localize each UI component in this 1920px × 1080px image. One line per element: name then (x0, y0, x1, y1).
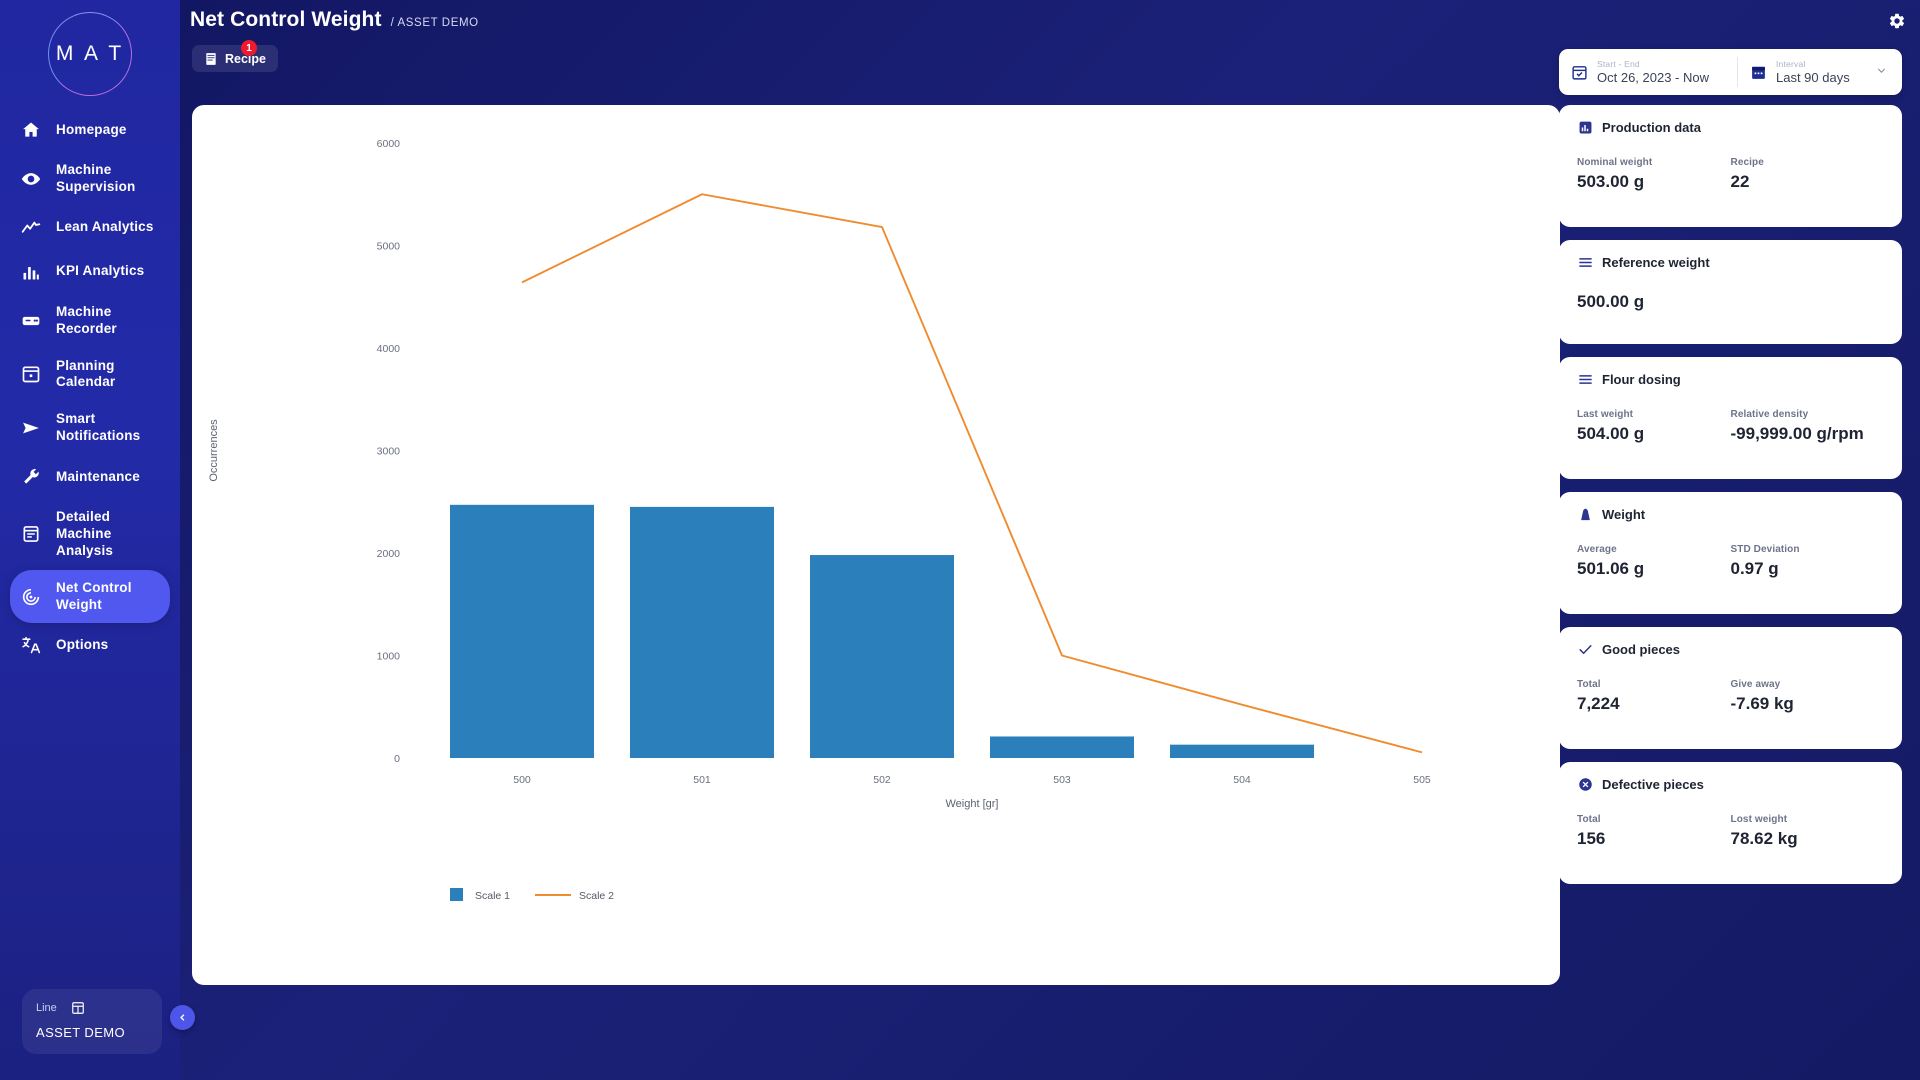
bar-chart-icon (20, 261, 42, 283)
sidebar-item-options[interactable]: Options (10, 623, 170, 667)
metric-card-production-data: Production dataNominal weight503.00 gRec… (1559, 105, 1902, 227)
metric: Give away-7.69 kg (1731, 679, 1885, 714)
card-title: Production data (1602, 120, 1701, 135)
y-axis-tick-label: 5000 (377, 241, 401, 253)
metric: 500.00 g (1577, 292, 1884, 312)
metric: Nominal weight503.00 g (1577, 157, 1731, 192)
metric-label: Average (1577, 544, 1731, 555)
sidebar-item-label: Planning Calendar (56, 358, 162, 392)
wrench-icon (20, 466, 42, 488)
bar-column[interactable] (990, 736, 1134, 758)
sidebar-collapse-button[interactable] (170, 1005, 195, 1030)
bar-column[interactable] (630, 507, 774, 758)
metric: Lost weight78.62 kg (1731, 814, 1885, 849)
sidebar-item-lean-analytics[interactable]: Lean Analytics (10, 206, 170, 250)
metric-label: Recipe (1731, 157, 1885, 168)
metric: Total7,224 (1577, 679, 1731, 714)
app-root: M A T HomepageMachine SupervisionLean An… (0, 0, 1920, 1080)
x-axis-tick-label: 504 (1233, 774, 1251, 786)
bar-column[interactable] (450, 505, 594, 758)
card-header: Weight (1577, 506, 1884, 522)
metric-label: Total (1577, 814, 1731, 825)
recipe-icon (204, 52, 218, 66)
y-axis-tick-label: 2000 (377, 548, 401, 560)
card-body: Total156Lost weight78.62 kg (1577, 814, 1884, 849)
card-body: Total7,224Give away-7.69 kg (1577, 679, 1884, 714)
sidebar-item-label: KPI Analytics (56, 263, 144, 280)
asset-selector[interactable]: Line ASSET DEMO (22, 989, 162, 1054)
send-icon (20, 417, 42, 439)
asset-name: ASSET DEMO (36, 1025, 148, 1040)
date-range-caption: Start - End (1597, 59, 1709, 69)
metric-label: Last weight (1577, 409, 1731, 420)
x-axis-tick-label: 502 (873, 774, 891, 786)
metric-value: 22 (1731, 172, 1885, 192)
sidebar-item-maintenance[interactable]: Maintenance (10, 455, 170, 499)
histogram-chart-panel: 0100020003000400050006000Occurrences5005… (192, 105, 1560, 985)
metric: Total156 (1577, 814, 1731, 849)
calendar-icon (1750, 64, 1767, 81)
sidebar-item-label: Detailed Machine Analysis (56, 509, 162, 560)
sidebar-item-label: Smart Notifications (56, 411, 162, 445)
card-header: Defective pieces (1577, 776, 1884, 792)
target-icon (20, 586, 42, 608)
bar-column[interactable] (810, 555, 954, 758)
metric-value: 7,224 (1577, 694, 1731, 714)
check-icon (1577, 641, 1593, 657)
calendar-icon (20, 363, 42, 385)
sidebar-item-machine-supervision[interactable]: Machine Supervision (10, 152, 170, 206)
date-range-value: Oct 26, 2023 - Now (1597, 70, 1709, 85)
gear-icon[interactable] (1888, 12, 1908, 32)
recorder-icon (20, 310, 42, 332)
metric-value: 78.62 kg (1731, 829, 1885, 849)
metric: Last weight504.00 g (1577, 409, 1731, 444)
card-title: Good pieces (1602, 642, 1680, 657)
y-axis-tick-label: 4000 (377, 343, 401, 355)
metric-card-weight: WeightAverage501.06 gSTD Deviation0.97 g (1559, 492, 1902, 614)
x-axis-tick-label: 500 (513, 774, 531, 786)
home-icon (20, 119, 42, 141)
metric-label: Nominal weight (1577, 157, 1731, 168)
card-body: Last weight504.00 gRelative density-99,9… (1577, 409, 1884, 444)
card-header: Reference weight (1577, 254, 1884, 270)
title-row: Net Control Weight / ASSET DEMO (190, 8, 479, 32)
date-range-segment[interactable]: Start - End Oct 26, 2023 - Now (1559, 49, 1737, 95)
sidebar-item-machine-recorder[interactable]: Machine Recorder (10, 294, 170, 348)
weight-icon (1577, 506, 1593, 522)
legend-label-line: Scale 2 (579, 890, 614, 902)
logo-circle: M A T (48, 12, 132, 96)
card-header: Production data (1577, 119, 1884, 135)
card-title: Defective pieces (1602, 777, 1704, 792)
metric-value: -7.69 kg (1731, 694, 1885, 714)
trend-line-icon (20, 217, 42, 239)
logo-text: M A T (56, 42, 124, 66)
translate-icon (20, 634, 42, 656)
x-axis-tick-label: 501 (693, 774, 711, 786)
metric-label: Lost weight (1731, 814, 1885, 825)
page-title: Net Control Weight (190, 8, 382, 32)
interval-caption: Interval (1776, 59, 1850, 69)
metric-card-good-pieces: Good piecesTotal7,224Give away-7.69 kg (1559, 627, 1902, 749)
list-icon (1577, 254, 1593, 270)
bar-column[interactable] (1170, 745, 1314, 758)
metric-card-defective-pieces: Defective piecesTotal156Lost weight78.62… (1559, 762, 1902, 884)
asset-line-row: Line (36, 1001, 148, 1015)
x-axis-title: Weight [gr] (946, 798, 999, 810)
metric-label: STD Deviation (1731, 544, 1885, 555)
card-body: Nominal weight503.00 gRecipe22 (1577, 157, 1884, 192)
sidebar-item-detailed-machine-analysis[interactable]: Detailed Machine Analysis (10, 499, 170, 570)
metric: Recipe22 (1731, 157, 1885, 192)
y-axis-title: Occurrences (208, 419, 220, 482)
card-title: Reference weight (1602, 255, 1710, 270)
chart-svg[interactable]: 0100020003000400050006000Occurrences5005… (192, 105, 1560, 985)
brand-logo[interactable]: M A T (0, 0, 180, 108)
interval-value: Last 90 days (1776, 70, 1850, 85)
card-body: 500.00 g (1577, 292, 1884, 312)
recipe-badge: 1 (241, 40, 257, 56)
x-circle-icon (1577, 776, 1593, 792)
sidebar-item-label: Maintenance (56, 469, 140, 486)
metric-card-reference-weight: Reference weight500.00 g (1559, 240, 1902, 344)
sidebar: M A T HomepageMachine SupervisionLean An… (0, 0, 180, 1080)
date-range-picker[interactable]: Start - End Oct 26, 2023 - Now Interval … (1559, 49, 1902, 95)
y-axis-tick-label: 3000 (377, 446, 401, 458)
interval-segment[interactable]: Interval Last 90 days (1738, 49, 1902, 95)
sidebar-item-net-control-weight[interactable]: Net Control Weight (10, 570, 170, 624)
metric-card-flour-dosing: Flour dosingLast weight504.00 gRelative … (1559, 357, 1902, 479)
sidebar-item-label: Machine Supervision (56, 162, 162, 196)
sidebar-item-label: Net Control Weight (56, 580, 162, 614)
y-axis-tick-label: 6000 (377, 138, 401, 150)
metric-label: Total (1577, 679, 1731, 690)
legend-swatch-bar[interactable] (450, 888, 463, 901)
metric: Relative density-99,999.00 g/rpm (1731, 409, 1885, 444)
sidebar-item-planning-calendar[interactable]: Planning Calendar (10, 348, 170, 402)
card-body: Average501.06 gSTD Deviation0.97 g (1577, 544, 1884, 579)
metric: Average501.06 g (1577, 544, 1731, 579)
metric-value: -99,999.00 g/rpm (1731, 424, 1885, 444)
card-title: Weight (1602, 507, 1645, 522)
sidebar-item-label: Homepage (56, 122, 127, 139)
list-icon (1577, 371, 1593, 387)
breadcrumb: / ASSET DEMO (391, 17, 479, 29)
sidebar-item-homepage[interactable]: Homepage (10, 108, 170, 152)
metric-value: 503.00 g (1577, 172, 1731, 192)
metric-value: 500.00 g (1577, 292, 1884, 312)
card-header: Good pieces (1577, 641, 1884, 657)
metric-label: Give away (1731, 679, 1885, 690)
sidebar-item-kpi-analytics[interactable]: KPI Analytics (10, 250, 170, 294)
bar-chart-square-icon (1577, 119, 1593, 135)
sidebar-item-smart-notifications[interactable]: Smart Notifications (10, 401, 170, 455)
card-header: Flour dosing (1577, 371, 1884, 387)
page-header: Net Control Weight / ASSET DEMO Recipe 1… (180, 0, 1920, 96)
metric-value: 0.97 g (1731, 559, 1885, 579)
clipboard-icon (20, 523, 42, 545)
recipe-button[interactable]: Recipe (192, 45, 278, 72)
metrics-panel: Production dataNominal weight503.00 gRec… (1559, 105, 1902, 884)
chevron-down-icon[interactable] (1875, 64, 1890, 80)
x-axis-tick-label: 503 (1053, 774, 1071, 786)
metric-value: 501.06 g (1577, 559, 1731, 579)
layout-icon (71, 1001, 85, 1015)
sidebar-spacer (0, 667, 180, 989)
sidebar-item-label: Machine Recorder (56, 304, 162, 338)
x-axis-tick-label: 505 (1413, 774, 1431, 786)
sidebar-item-label: Options (56, 637, 108, 654)
sidebar-item-label: Lean Analytics (56, 219, 154, 236)
asset-line-label: Line (36, 1002, 57, 1014)
y-axis-tick-label: 0 (394, 753, 400, 765)
metric-label: Relative density (1731, 409, 1885, 420)
metric: STD Deviation0.97 g (1731, 544, 1885, 579)
eye-icon (20, 168, 42, 190)
metric-value: 156 (1577, 829, 1731, 849)
metric-value: 504.00 g (1577, 424, 1731, 444)
y-axis-tick-label: 1000 (377, 651, 401, 663)
legend-label-bar: Scale 1 (475, 890, 510, 902)
sidebar-nav: HomepageMachine SupervisionLean Analytic… (0, 108, 180, 667)
card-title: Flour dosing (1602, 372, 1681, 387)
calendar-check-icon (1571, 64, 1588, 81)
